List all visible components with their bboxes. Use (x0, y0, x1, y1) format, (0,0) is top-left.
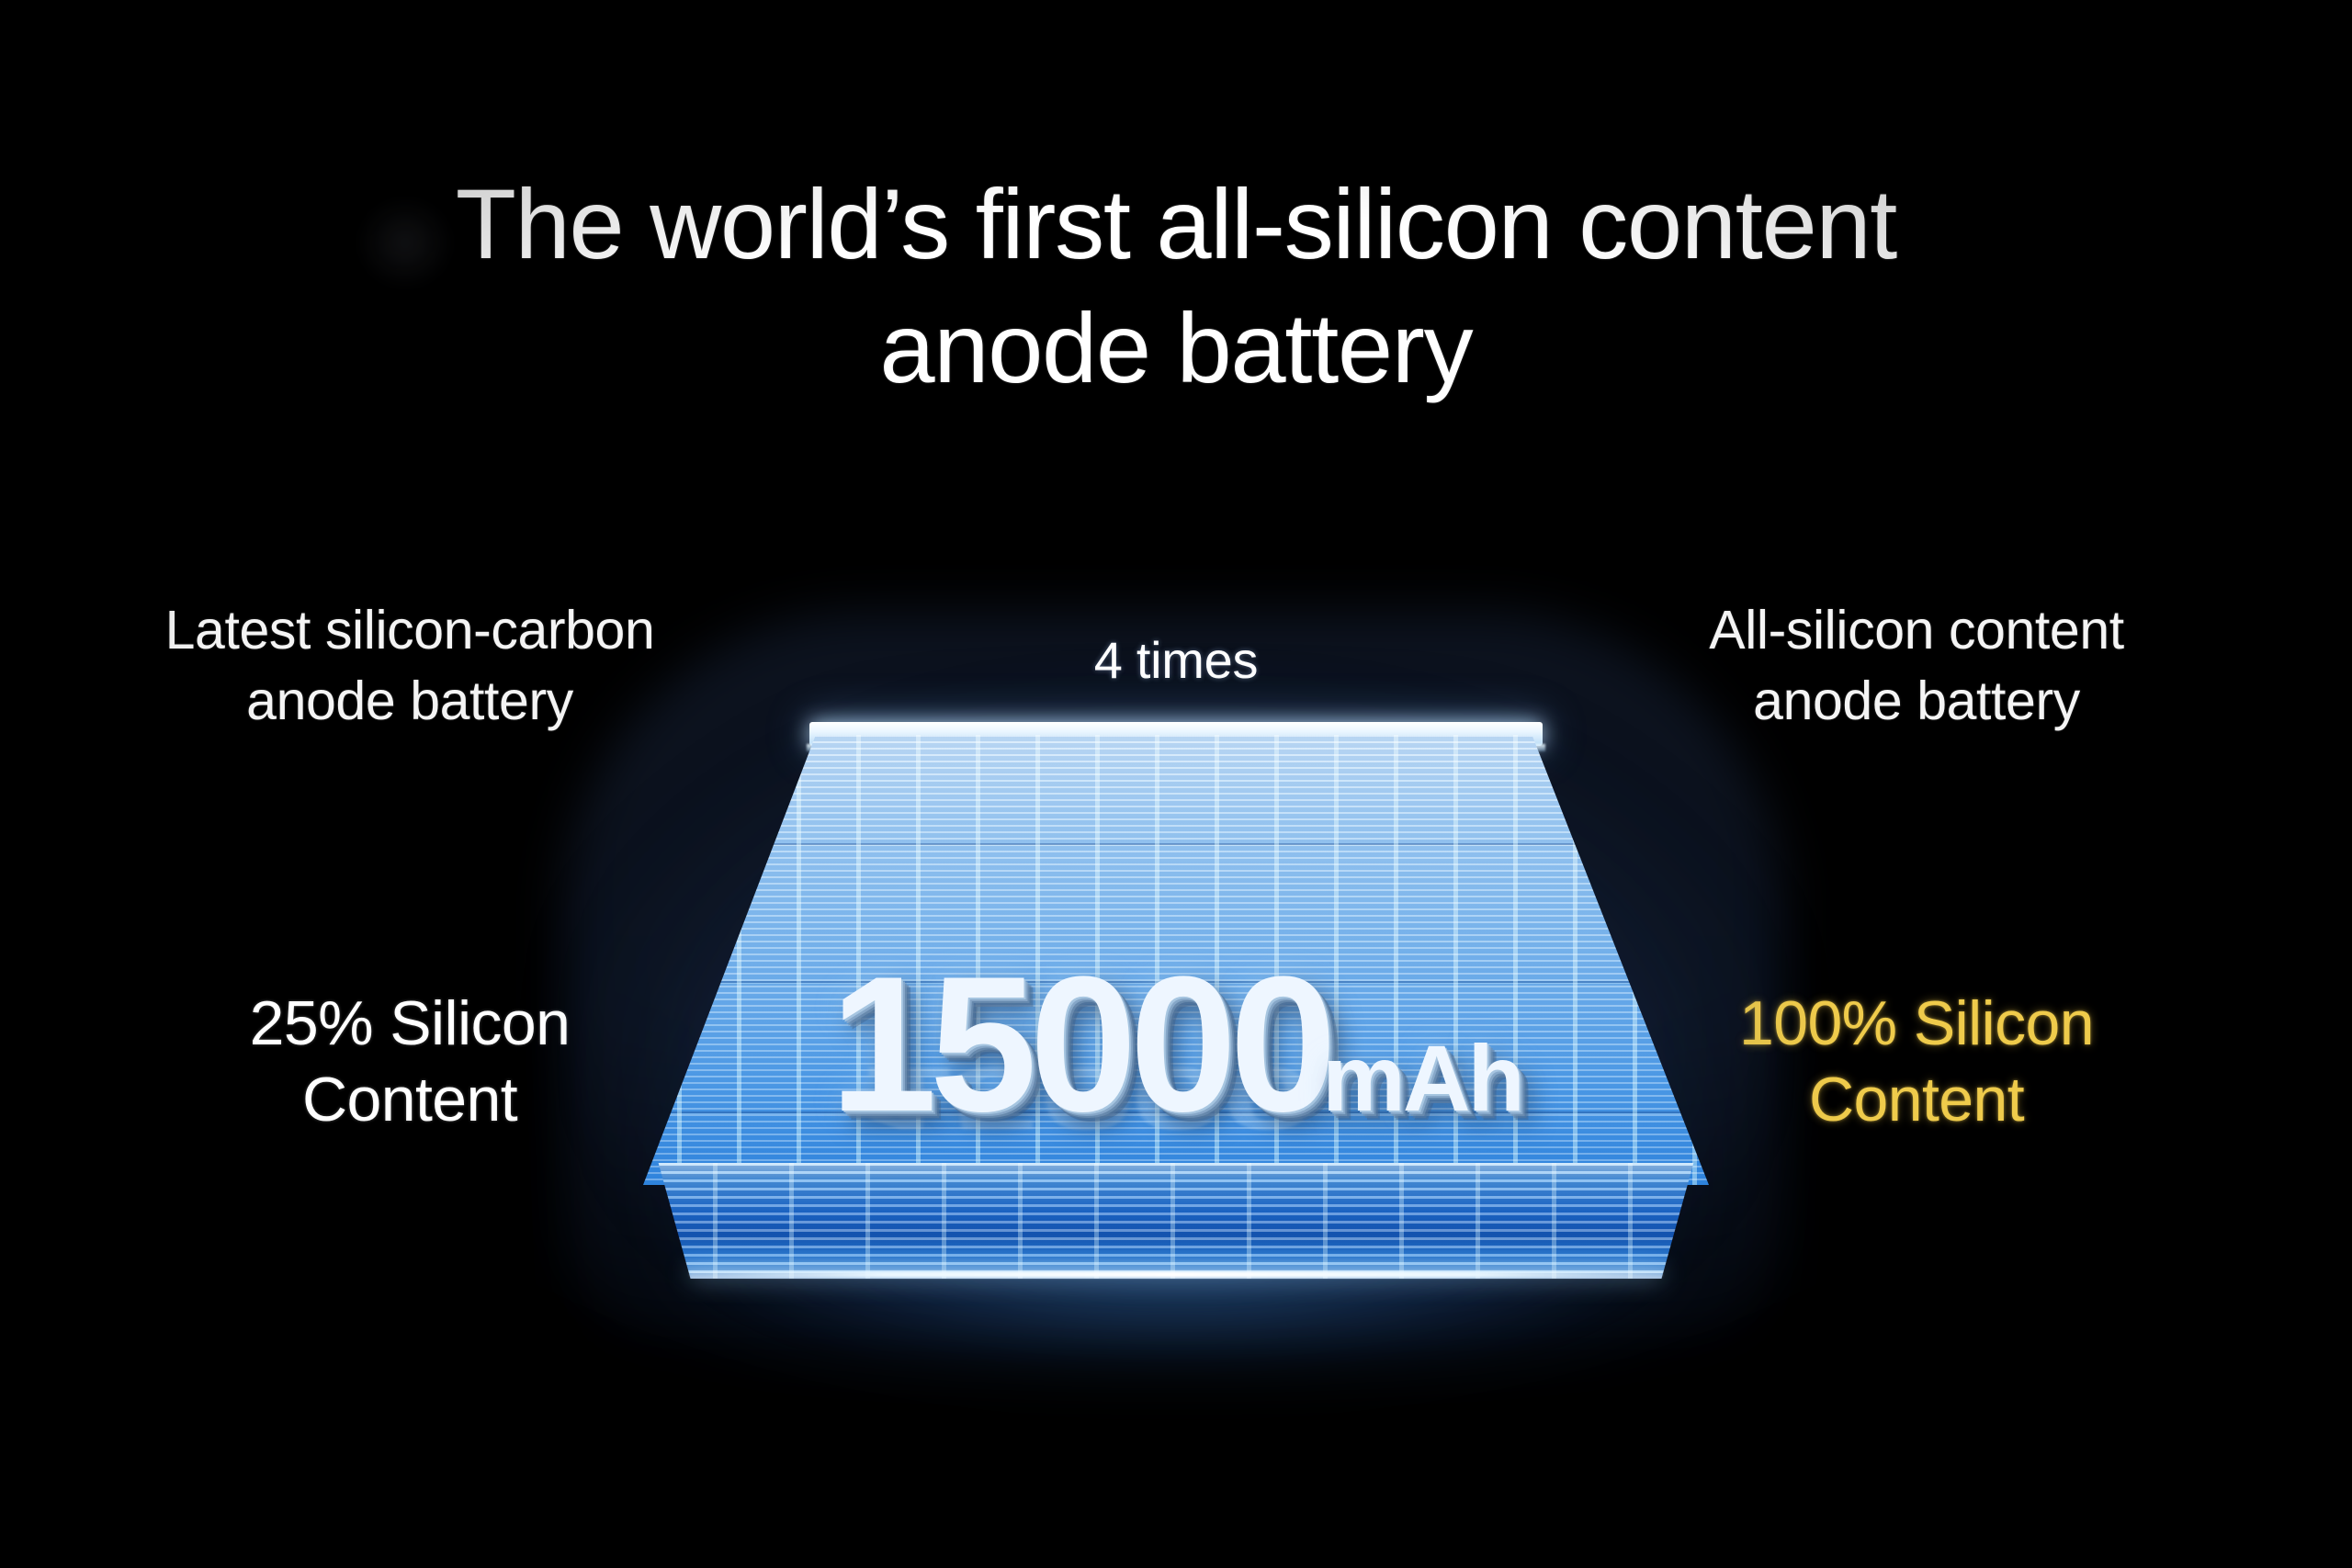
capacity-unit: mAh (1322, 1026, 1522, 1131)
battery-illustration: 15000mAh 15000mAh (643, 735, 1709, 1286)
battery-base-slab (641, 1163, 1711, 1279)
capacity-label: 15000mAh (643, 948, 1709, 1141)
slide-title: The world’s first all-silicon content an… (0, 162, 2352, 410)
battery-face-band (643, 843, 1709, 845)
capacity-value: 15000 (830, 936, 1329, 1152)
presentation-slide: The world’s first all-silicon content an… (0, 0, 2352, 1568)
multiplier-label: 4 times (0, 630, 2352, 690)
battery-base-rim-bottom (689, 1271, 1663, 1278)
